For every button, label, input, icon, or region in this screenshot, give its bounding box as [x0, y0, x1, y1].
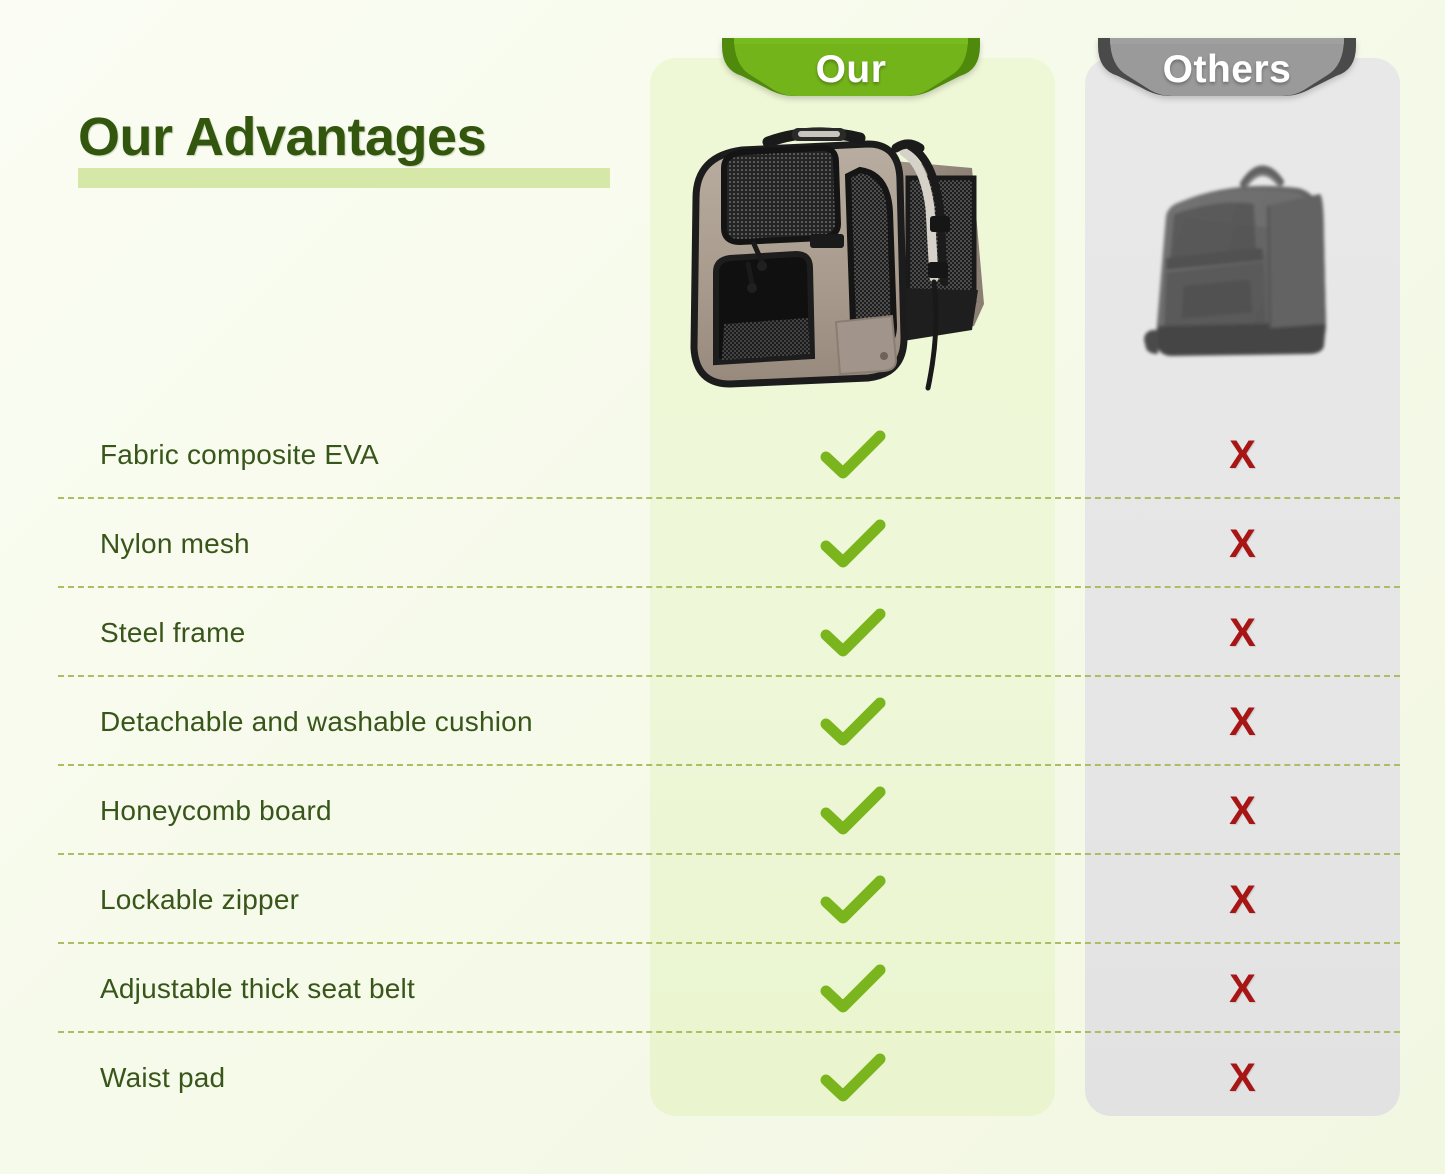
our-column-ribbon: Our — [722, 36, 980, 108]
our-cell — [650, 855, 1055, 944]
others-column-label: Others — [1098, 36, 1356, 108]
page-title-block: Our Advantages — [78, 110, 638, 190]
table-row: Fabric composite EVA X — [0, 410, 1445, 499]
our-product-image — [672, 112, 1002, 414]
our-cell — [650, 410, 1055, 499]
our-cell — [650, 944, 1055, 1033]
our-cell — [650, 677, 1055, 766]
check-icon — [820, 1053, 886, 1103]
others-cell: X — [1085, 499, 1400, 588]
feature-label: Adjustable thick seat belt — [100, 944, 415, 1033]
feature-label: Nylon mesh — [100, 499, 250, 588]
feature-label: Detachable and washable cushion — [100, 677, 533, 766]
table-row: Nylon mesh X — [0, 499, 1445, 588]
cross-icon: X — [1229, 435, 1256, 475]
cross-icon: X — [1229, 524, 1256, 564]
table-row: Detachable and washable cushion X — [0, 677, 1445, 766]
page-title: Our Advantages — [78, 110, 638, 164]
our-cell — [650, 1033, 1055, 1122]
others-cell: X — [1085, 766, 1400, 855]
table-row: Steel frame X — [0, 588, 1445, 677]
others-cell: X — [1085, 855, 1400, 944]
table-row: Lockable zipper X — [0, 855, 1445, 944]
others-product-image — [1112, 140, 1392, 390]
feature-label: Fabric composite EVA — [100, 410, 379, 499]
others-cell: X — [1085, 410, 1400, 499]
cross-icon: X — [1229, 1058, 1256, 1098]
cross-icon: X — [1229, 880, 1256, 920]
title-highlight-band — [78, 168, 610, 188]
check-icon — [820, 430, 886, 480]
table-row: Waist pad X — [0, 1033, 1445, 1122]
others-cell: X — [1085, 677, 1400, 766]
our-column-label: Our — [722, 36, 980, 108]
feature-label: Waist pad — [100, 1033, 225, 1122]
our-cell — [650, 588, 1055, 677]
cross-icon: X — [1229, 702, 1256, 742]
feature-label: Lockable zipper — [100, 855, 299, 944]
others-column-ribbon: Others — [1098, 36, 1356, 108]
others-cell: X — [1085, 588, 1400, 677]
check-icon — [820, 697, 886, 747]
cross-icon: X — [1229, 613, 1256, 653]
check-icon — [820, 786, 886, 836]
check-icon — [820, 519, 886, 569]
our-cell — [650, 766, 1055, 855]
cross-icon: X — [1229, 791, 1256, 831]
check-icon — [820, 608, 886, 658]
comparison-chart: Our Others Our Advantages — [0, 0, 1445, 1174]
feature-rows: Fabric composite EVA X Nylon mesh X Stee… — [0, 410, 1445, 1122]
table-row: Honeycomb board X — [0, 766, 1445, 855]
feature-label: Honeycomb board — [100, 766, 332, 855]
check-icon — [820, 875, 886, 925]
check-icon — [820, 964, 886, 1014]
others-cell: X — [1085, 1033, 1400, 1122]
cross-icon: X — [1229, 969, 1256, 1009]
feature-label: Steel frame — [100, 588, 245, 677]
others-cell: X — [1085, 944, 1400, 1033]
table-row: Adjustable thick seat belt X — [0, 944, 1445, 1033]
our-cell — [650, 499, 1055, 588]
